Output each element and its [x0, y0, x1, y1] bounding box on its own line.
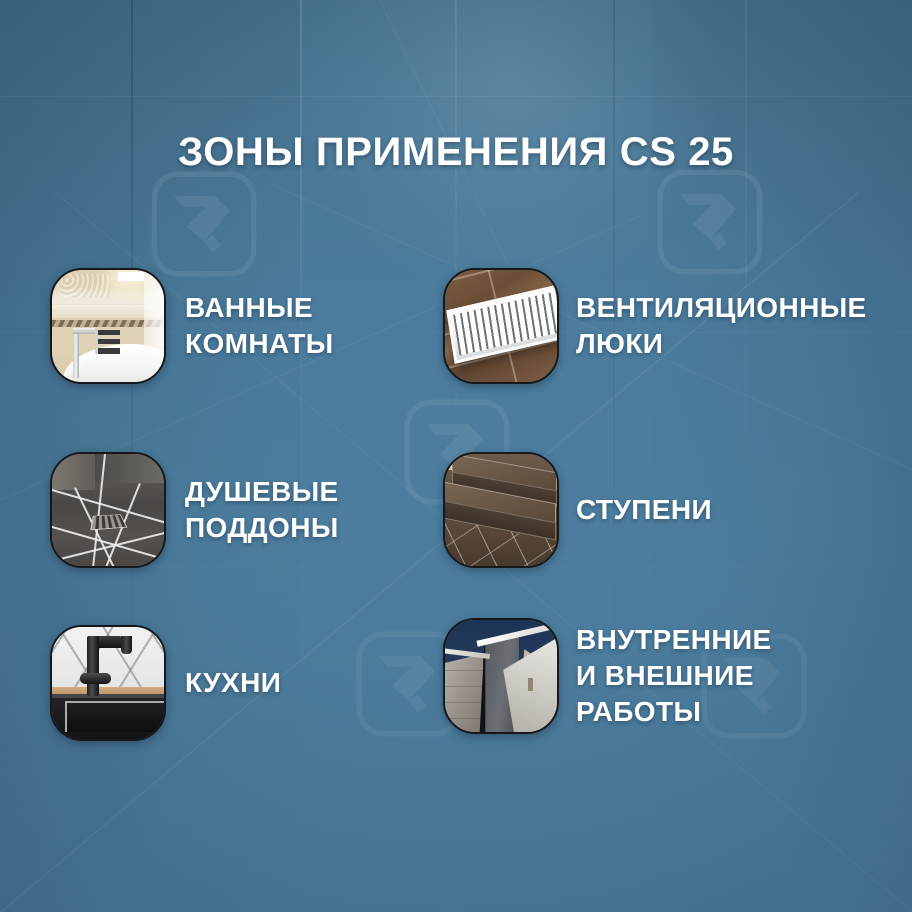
feature-item-steps[interactable]: СТУПЕНИ	[443, 452, 712, 568]
feature-item-bathrooms[interactable]: ВАННЫЕ КОМНАТЫ	[50, 268, 334, 384]
feature-item-label: КУХНИ	[185, 665, 281, 701]
shower-tray-photo-icon	[50, 452, 166, 568]
kitchen-sink-photo-icon	[50, 625, 166, 741]
feature-item-label: ВНУТРЕННИЕ И ВНЕШНИЕ РАБОТЫ	[576, 622, 772, 729]
feature-item-interior-exterior-works[interactable]: ВНУТРЕННИЕ И ВНЕШНИЕ РАБОТЫ	[443, 618, 772, 734]
poster-canvas: ЗОНЫ ПРИМЕНЕНИЯ CS 25 ВАННЫЕ КОМНАТЫ	[0, 0, 912, 912]
page-title: ЗОНЫ ПРИМЕНЕНИЯ CS 25	[0, 130, 912, 175]
feature-item-ventilation-hatches[interactable]: ВЕНТИЛЯЦИОННЫЕ ЛЮКИ	[443, 268, 867, 384]
feature-item-kitchens[interactable]: КУХНИ	[50, 625, 281, 741]
bathroom-photo-icon	[50, 268, 166, 384]
feature-item-shower-trays[interactable]: ДУШЕВЫЕ ПОДДОНЫ	[50, 452, 339, 568]
feature-item-label: ВАННЫЕ КОМНАТЫ	[185, 290, 334, 362]
feature-item-label: ДУШЕВЫЕ ПОДДОНЫ	[185, 474, 339, 546]
feature-item-label: СТУПЕНИ	[576, 492, 712, 528]
building-facade-photo-icon	[443, 618, 559, 734]
feature-item-label: ВЕНТИЛЯЦИОННЫЕ ЛЮКИ	[576, 290, 867, 362]
tiled-steps-photo-icon	[443, 452, 559, 568]
vent-grille-photo-icon	[443, 268, 559, 384]
